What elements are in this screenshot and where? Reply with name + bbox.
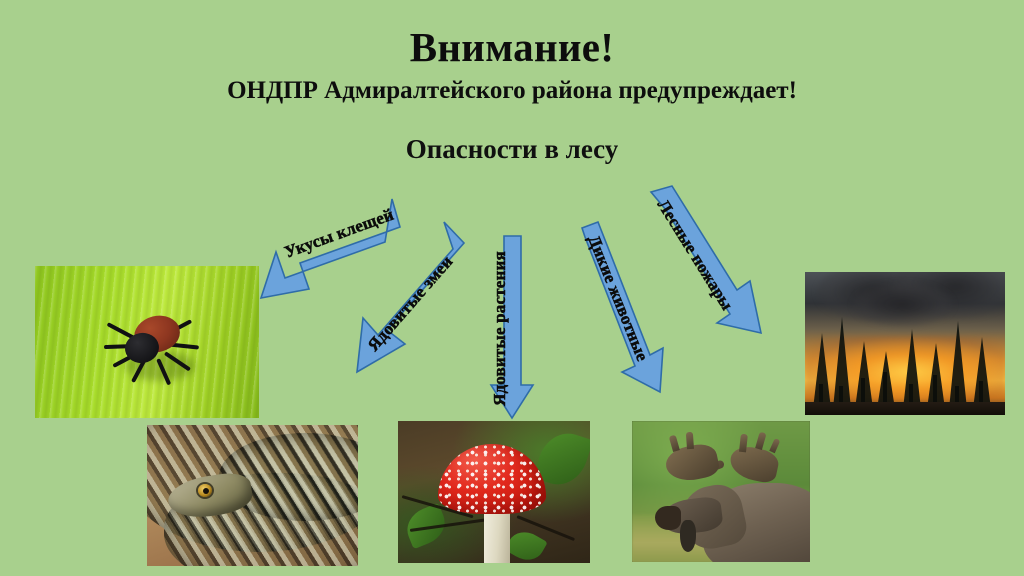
arrow-label-forest-fires: Лесные пожары — [654, 196, 737, 314]
arrow-forest-fires[interactable]: Лесные пожары — [651, 186, 761, 333]
presentation-slide: Внимание! ОНДПР Адмиралтейского района п… — [0, 0, 1024, 576]
arrow-label-poisonous-plants: Ядовитые растения — [490, 251, 509, 406]
arrow-label-venomous-snakes: Ядовитые змеи — [364, 252, 457, 355]
arrow-diagram-layer: Укусы клещей Ядовитые змеи Ядовитые раст… — [0, 0, 1024, 576]
arrow-label-wild-animals: Дикие животные — [584, 232, 652, 364]
arrow-poisonous-plants[interactable]: Ядовитые растения — [490, 236, 533, 418]
arrow-wild-animals[interactable]: Дикие животные — [582, 222, 663, 392]
arrow-tick-bites[interactable]: Укусы клещей — [261, 199, 400, 298]
